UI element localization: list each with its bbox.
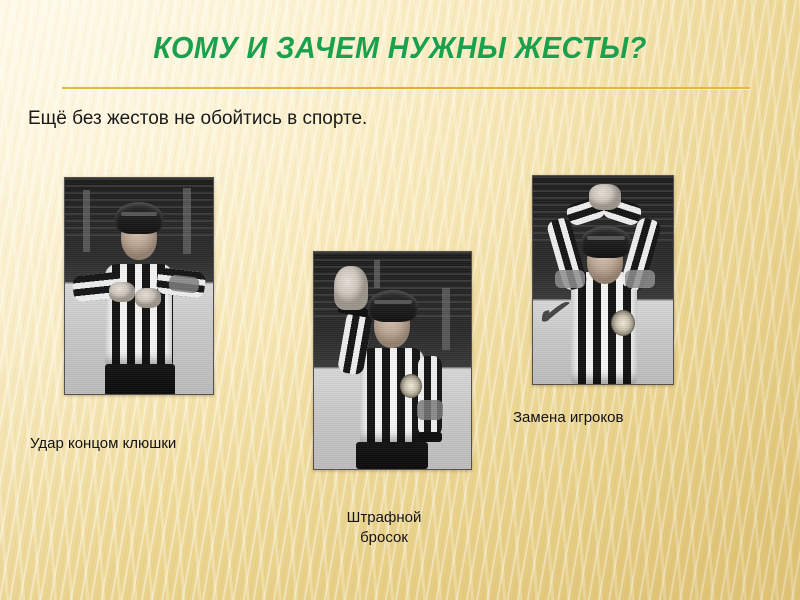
presentation-slide: Кому и зачем нужны жесты? Ещё без жестов… bbox=[0, 0, 800, 600]
photo-scene-1 bbox=[65, 178, 213, 394]
helmet-band bbox=[374, 300, 412, 304]
referee-helmet bbox=[581, 226, 631, 258]
referee-pants bbox=[356, 442, 428, 469]
referee-right-arm bbox=[418, 356, 442, 436]
referee-armband bbox=[417, 400, 443, 420]
arena-post bbox=[374, 260, 380, 288]
caption-line-1: Штрафной bbox=[289, 508, 479, 528]
referee-pants bbox=[105, 364, 175, 394]
referee-helmet bbox=[368, 290, 418, 322]
referee-hand bbox=[135, 288, 161, 308]
helmet-band bbox=[587, 236, 625, 240]
referee-armband bbox=[555, 270, 585, 288]
photo-referee-spearing bbox=[64, 177, 214, 395]
caption-photo-penalty-shot: Штрафной бросок bbox=[289, 508, 479, 548]
slide-title: Кому и зачем нужны жесты? bbox=[65, 30, 735, 66]
photo-referee-penalty-shot bbox=[313, 251, 472, 470]
referee-open-hand bbox=[334, 266, 368, 310]
lead-paragraph: Ещё без жестов не обойтись в спорте. bbox=[28, 106, 367, 132]
caption-line-2: бросок bbox=[289, 528, 479, 548]
caption-photo-spearing: Удар концом клюшки bbox=[30, 434, 176, 454]
referee-helmet bbox=[115, 202, 163, 234]
helmet-band bbox=[121, 212, 157, 216]
referee-wrist-cuff bbox=[418, 432, 442, 442]
referee-clasped-hands bbox=[589, 184, 621, 210]
arena-post bbox=[183, 188, 191, 254]
referee-crest bbox=[400, 374, 422, 398]
photo-referee-substitution: ✔ bbox=[532, 175, 674, 385]
title-divider-rule bbox=[62, 87, 750, 89]
arena-post bbox=[83, 190, 90, 252]
photo-scene-3: ✔ bbox=[533, 176, 673, 384]
referee-hand bbox=[109, 282, 135, 302]
photo-scene-2 bbox=[314, 252, 471, 469]
arena-post bbox=[442, 288, 450, 350]
referee-crest bbox=[611, 310, 635, 336]
referee-armband bbox=[625, 270, 655, 288]
caption-photo-substitution: Замена игроков bbox=[513, 408, 623, 428]
